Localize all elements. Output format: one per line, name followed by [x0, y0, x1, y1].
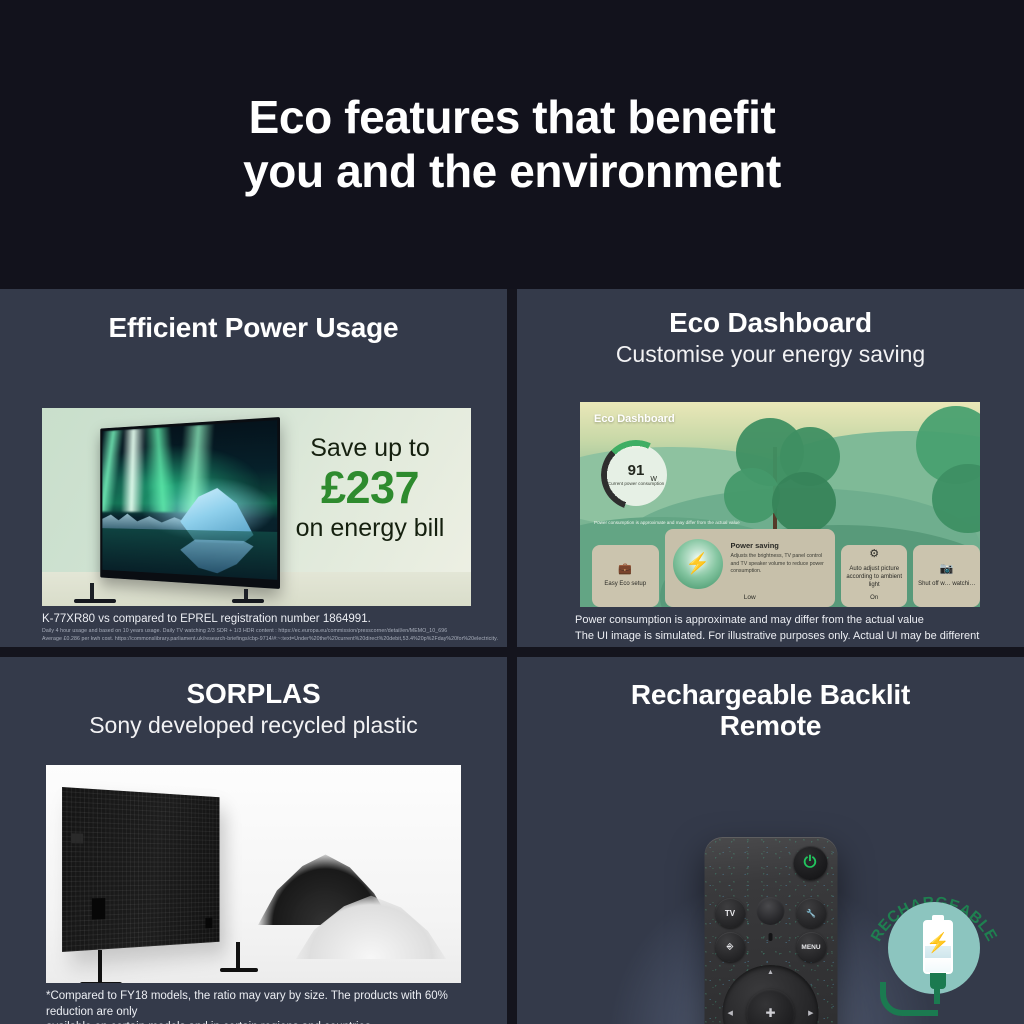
- panel-sorplas: SORPLAS Sony developed recycled plastic: [0, 657, 507, 1024]
- panel-power-title: Efficient Power Usage: [0, 312, 507, 343]
- eco-dashboard-ui-image: Eco Dashboard 91 W Current power consump…: [580, 402, 980, 607]
- panel-power-fineprint: Daily 4 hour usage and based on 10 years…: [42, 628, 498, 644]
- power-consumption-gauge: 91 W Current power consumption: [605, 444, 667, 506]
- tv-foot-left: [80, 982, 122, 983]
- panel-remote-title: Rechargeable Backlit Remote: [517, 679, 1024, 742]
- panel-sorplas-caption: *Compared to FY18 models, the ratio may …: [46, 989, 476, 1024]
- eco-dashboard-screen-label: Eco Dashboard: [594, 413, 675, 425]
- sorplas-image: [46, 765, 461, 983]
- dashboard-caption-line-1: Power consumption is approximate and may…: [575, 613, 979, 629]
- arrow-up-icon[interactable]: ▲: [767, 969, 774, 976]
- panel-remote-title-line1: Rechargeable Backlit: [517, 679, 1024, 710]
- feature-grid: Efficient Power Usage: [0, 289, 1024, 1024]
- power-saving-icon: ⚡: [673, 539, 723, 589]
- sorplas-caption-line-2: available on certain models and in certa…: [46, 1020, 476, 1024]
- settings-button[interactable]: 🔧: [796, 898, 826, 928]
- card-power-saving[interactable]: ⚡ Power saving Adjusts the brightness, T…: [665, 529, 835, 607]
- gauge-unit: W: [650, 476, 657, 483]
- tree-foliage-4: [772, 472, 836, 534]
- panel-dashboard-title: Eco Dashboard: [517, 307, 1024, 338]
- tv-rear-legs: [76, 950, 296, 983]
- card-auto-adjust-label: Auto adjust picture according to ambient…: [841, 566, 908, 589]
- brightness-icon: ⚙: [869, 549, 879, 560]
- poster-header: Eco features that benefit you and the en…: [0, 0, 1024, 289]
- page-title-line1: Eco features that benefit: [243, 91, 781, 145]
- rechargeable-badge: RECHARGEABLE ⚡: [870, 874, 998, 1002]
- arrow-right-icon[interactable]: ▶: [808, 1009, 813, 1017]
- tv-bezel: [100, 417, 280, 589]
- remote-control[interactable]: ⏻ TV 🔧 ⎆ MENU ▲ ▼ ◀: [704, 837, 837, 1024]
- battery-icon: ⚡: [923, 920, 953, 974]
- panel-dashboard-caption: Power consumption is approximate and may…: [575, 613, 979, 645]
- dpad-ok-button[interactable]: ✚: [747, 989, 795, 1024]
- panel-dashboard-subtitle: Customise your energy saving: [517, 341, 1024, 367]
- input-source-icon: ⎆: [727, 942, 733, 952]
- charging-cable-icon: [880, 982, 938, 1016]
- power-button[interactable]: ⏻: [793, 846, 827, 880]
- card-power-saving-label: Power saving: [731, 541, 827, 550]
- power-icon: ⏻: [804, 855, 817, 871]
- savings-line1: Save up to: [285, 434, 455, 463]
- fineprint-line-2: Average £0.286 per kwh cost. https://com…: [42, 636, 498, 644]
- gauge-ring: [601, 440, 671, 510]
- menu-button-label: MENU: [801, 944, 820, 951]
- tree-foliage-3: [724, 468, 780, 523]
- eco-dashboard-card-row: 💼 Easy Eco setup ⚡ Power saving Adjusts …: [584, 529, 980, 607]
- page-title: Eco features that benefit you and the en…: [243, 91, 781, 199]
- page-title-line2: you and the environment: [243, 145, 781, 199]
- tv-rear-port-3: [206, 918, 213, 929]
- panel-sorplas-subtitle: Sony developed recycled plastic: [0, 712, 507, 738]
- card-shut-off-label: Shut off w… watchi…: [918, 581, 975, 589]
- eco-features-poster: Eco features that benefit you and the en…: [0, 0, 1024, 1024]
- tv-energy-image: Save up to £237 on energy bill: [42, 408, 471, 606]
- card-power-saving-value: Low: [665, 594, 835, 601]
- tv-foot-left: [74, 599, 116, 603]
- gauge-note: Power consumption is approximate and may…: [594, 520, 740, 527]
- ir-indicator: [769, 933, 773, 941]
- panel-efficient-power-usage: Efficient Power Usage: [0, 289, 507, 647]
- card-power-saving-text: Power saving Adjusts the brightness, TV …: [723, 537, 827, 576]
- tv-rear-port-1: [71, 833, 83, 843]
- dashboard-caption-line-2: The UI image is simulated. For illustrat…: [575, 629, 979, 645]
- lightning-bolt-icon: ⚡: [685, 554, 710, 574]
- savings-callout: Save up to £237 on energy bill: [285, 434, 455, 543]
- toolbox-icon: 💼: [618, 564, 632, 575]
- panel-eco-dashboard: Eco Dashboard Customise your energy savi…: [517, 289, 1024, 647]
- menu-button[interactable]: MENU: [796, 932, 826, 962]
- card-auto-adjust-value: On: [870, 595, 878, 603]
- tv-rear-panel: [62, 787, 219, 952]
- tv-rear-port-2: [92, 898, 106, 920]
- panel-power-caption: K-77XR80 vs compared to EPREL registrati…: [42, 612, 371, 628]
- panel-sorplas-title: SORPLAS: [0, 678, 507, 709]
- tv-button[interactable]: TV: [715, 898, 745, 928]
- tv-foot-right: [220, 968, 258, 972]
- dpad-ok-icon: ✚: [765, 1006, 775, 1020]
- aurora-lights: [102, 420, 277, 513]
- panel-rechargeable-remote: Rechargeable Backlit Remote ⏻ TV 🔧 ⎆: [517, 657, 1024, 1024]
- sorplas-caption-line-1: *Compared to FY18 models, the ratio may …: [46, 989, 476, 1020]
- savings-amount: £237: [285, 463, 455, 513]
- input-button[interactable]: ⎆: [715, 932, 745, 962]
- card-easy-eco-setup[interactable]: 💼 Easy Eco setup: [592, 545, 659, 607]
- tv-leg-left: [98, 950, 102, 983]
- arrow-left-icon[interactable]: ◀: [728, 1009, 733, 1017]
- savings-line2: on energy bill: [285, 513, 455, 543]
- card-shut-off-screen[interactable]: 📷 Shut off w… watchi…: [913, 545, 980, 607]
- wrench-icon: 🔧: [806, 909, 816, 918]
- tv-screen-aurora: [102, 420, 277, 580]
- card-power-saving-description: Adjusts the brightness, TV panel control…: [731, 553, 827, 576]
- tv-leg-right: [236, 942, 240, 970]
- tv-button-label: TV: [725, 909, 735, 918]
- card-auto-adjust-picture[interactable]: ⚙ Auto adjust picture according to ambie…: [841, 545, 908, 607]
- television-graphic: [56, 417, 294, 595]
- card-easy-eco-setup-label: Easy Eco setup: [604, 581, 646, 589]
- panel-remote-title-line2: Remote: [517, 710, 1024, 741]
- screen-off-icon: 📷: [940, 564, 954, 575]
- tv-foot-right: [232, 599, 264, 603]
- battery-bolt-icon: ⚡: [925, 934, 951, 953]
- microphone-button[interactable]: [757, 897, 785, 925]
- fineprint-line-1: Daily 4 hour usage and based on 10 years…: [42, 628, 498, 636]
